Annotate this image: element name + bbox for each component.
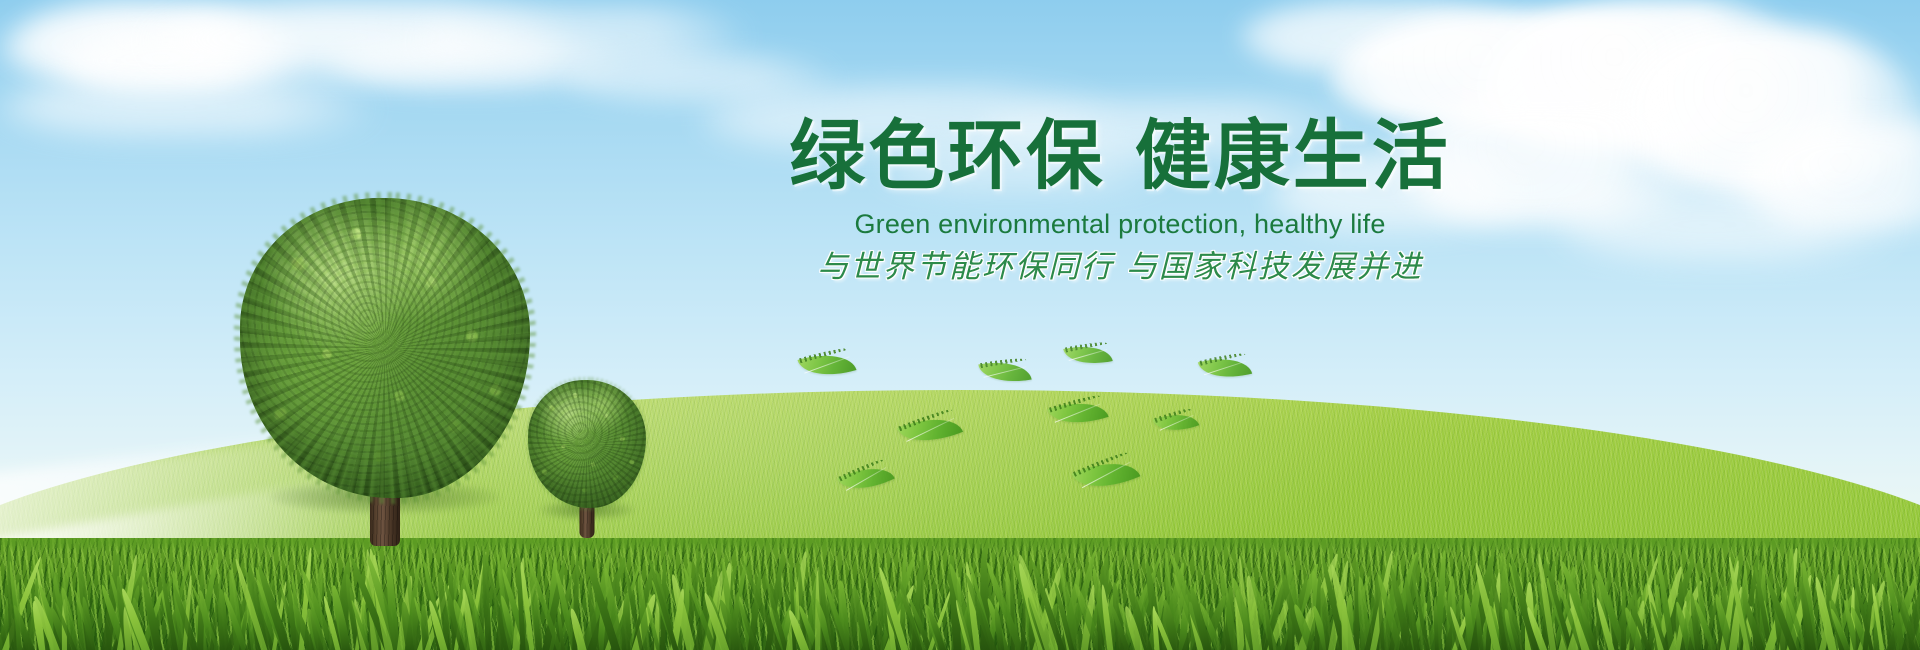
leaf-vein xyxy=(984,366,1027,378)
banner-subtitle-english: Green environmental protection, healthy … xyxy=(760,210,1480,240)
banner-text-block: 绿色环保 健康生活 Green environmental protection… xyxy=(760,118,1480,284)
grass-border-fade xyxy=(0,538,1920,546)
large-tree xyxy=(240,198,530,498)
cloud xyxy=(1560,190,1900,260)
banner-headline: 绿色环保 健康生活 xyxy=(760,118,1480,194)
eco-banner: 绿色环保 健康生活 Green environmental protection… xyxy=(0,0,1920,650)
banner-tagline-chinese: 与世界节能环保同行 与国家科技发展并进 xyxy=(760,250,1480,284)
small-tree xyxy=(528,380,646,508)
small-tree-canopy xyxy=(528,380,646,508)
grass-border xyxy=(0,538,1920,650)
large-tree-canopy xyxy=(240,198,530,498)
cloud xyxy=(0,78,380,136)
